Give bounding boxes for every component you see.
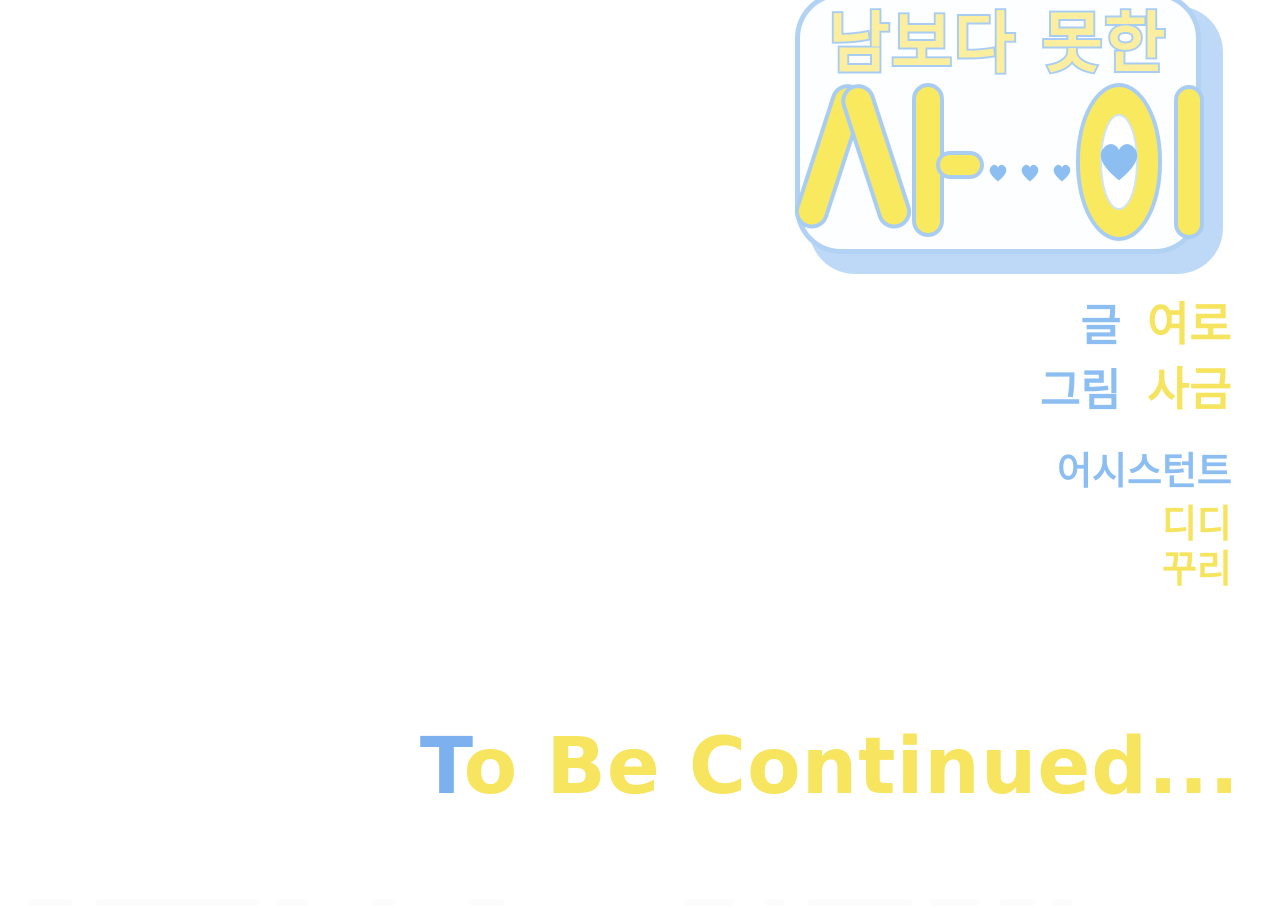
title-glyph-i-circle: [1076, 83, 1162, 241]
title-line-1: 남보다 못한: [800, 11, 1196, 77]
credit-writer-role: 글: [1081, 303, 1121, 349]
credits-block: 글 여로 그림 사금 어시스턴트 디디 꾸리: [860, 300, 1232, 592]
title-glyph-sa-bar: [936, 151, 984, 179]
to-be-continued-text: To Be Continued...: [0, 728, 1240, 806]
to-be-continued-initial: T: [420, 722, 464, 812]
title-logo: 남보다 못한 남보다 못한: [795, 0, 1223, 277]
bleed-mark: [930, 899, 978, 906]
next-panel-bleed: [0, 894, 1280, 908]
to-be-continued-remainder: o Be Continued...: [464, 722, 1240, 812]
bleed-mark: [808, 899, 912, 906]
bleed-mark: [470, 899, 504, 906]
credit-assistant-role: 어시스턴트: [860, 452, 1232, 492]
heart-icon: [1052, 163, 1072, 183]
webtoon-episode-end-page: 남보다 못한 남보다 못한: [0, 0, 1280, 908]
title-logo-card: 남보다 못한 남보다 못한: [795, 0, 1201, 254]
heart-icon: [1020, 163, 1040, 183]
bleed-mark: [96, 899, 258, 906]
credit-artist: 그림 사금: [860, 365, 1232, 414]
bleed-mark: [766, 899, 784, 906]
credit-artist-name: 사금: [1147, 365, 1232, 413]
heart-icon: [988, 163, 1008, 183]
bleed-mark: [1052, 899, 1072, 906]
bleed-mark: [276, 899, 308, 906]
heart-icon: [1097, 141, 1141, 183]
bleed-mark: [684, 899, 734, 906]
title-glyph-i-stem: [1174, 85, 1204, 239]
bleed-mark: [372, 899, 394, 906]
credit-assistant-name-2: 꾸리: [860, 547, 1232, 592]
credit-artist-role: 그림: [1040, 368, 1121, 414]
credit-writer: 글 여로: [860, 300, 1232, 349]
title-line-2: [800, 75, 1196, 255]
bleed-mark: [1000, 899, 1034, 906]
title-glyph-sa-right-leg: [837, 80, 916, 233]
credit-assistant-name-1: 디디: [860, 502, 1232, 547]
credit-writer-name: 여로: [1147, 300, 1232, 348]
bleed-mark: [28, 899, 72, 906]
